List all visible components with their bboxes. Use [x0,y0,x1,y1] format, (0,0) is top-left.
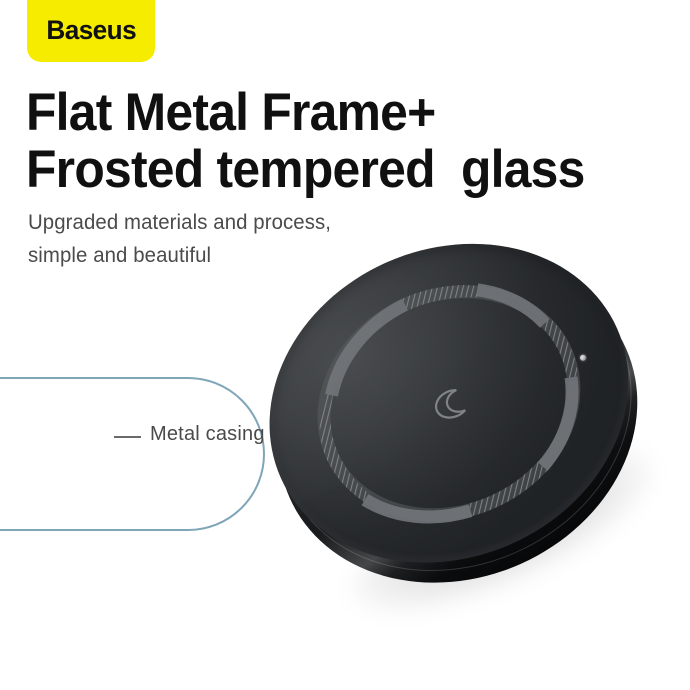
product-rotor [196,168,690,690]
brand-name: Baseus [46,15,136,46]
product-image [262,232,666,642]
product-face-sheen [218,188,663,521]
callout-leader-line [114,436,141,438]
product-marketing-poster: Baseus Flat Metal Frame+ Frosted tempere… [0,0,690,690]
headline-line-1: Flat Metal Frame+ [26,84,628,141]
product-glass-face [218,188,679,619]
callout-bubble-outline [0,377,265,531]
brand-badge: Baseus [27,0,155,62]
